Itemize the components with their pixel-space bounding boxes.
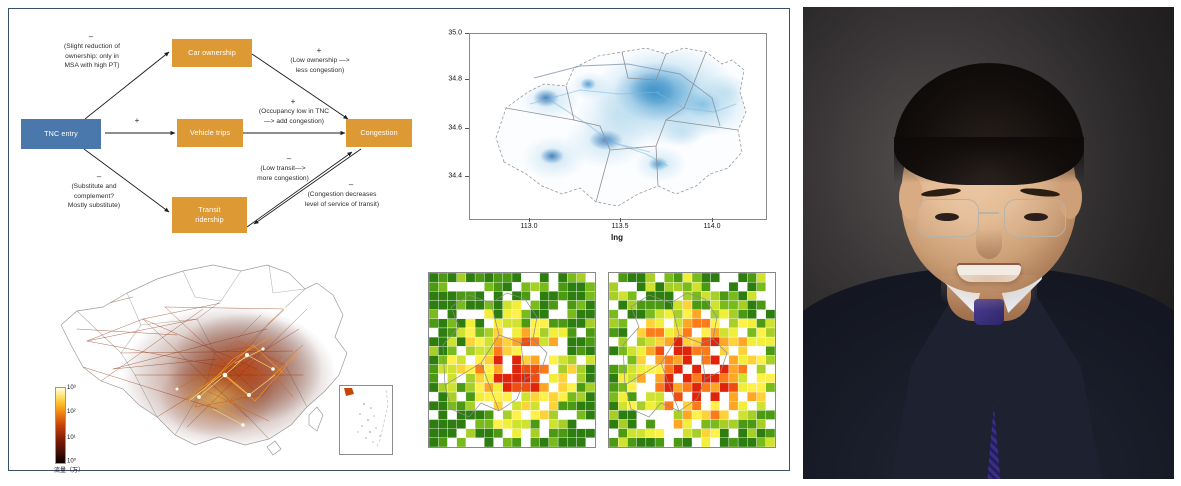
edge-annotation-tnc-ownership: (Slight reduction of ownership: only in …: [51, 42, 133, 71]
diagram-node-label: Congestion: [360, 128, 397, 138]
diagram-node-tnc-entry[interactable]: TNC entry: [21, 119, 101, 149]
kde-xtick-label: 113.0: [521, 223, 538, 230]
flow-colorbar: [55, 387, 66, 464]
eyeglass-lens-left: [917, 199, 979, 237]
kde-ytick-label: 34.8: [444, 76, 462, 83]
national-flow-map: 10³ 10² 10¹ 10⁰ 流量（万）: [17, 249, 417, 469]
flow-colorbar-tick: 10³: [67, 385, 76, 391]
inset-islands: [340, 386, 392, 454]
edge-annotation-trips-congestion: (Occupancy low in TNC —> add congestion): [247, 107, 341, 126]
kde-xtick-label: 113.5: [612, 223, 629, 230]
kde-plot-area: [469, 33, 767, 220]
edge-sign-ownership-congestion: +: [289, 47, 349, 55]
diagram-node-vehicle-trips[interactable]: Vehicle trips: [177, 119, 243, 147]
screenshot-root: TNC entry Car ownership Vehicle trips Co…: [0, 0, 1181, 486]
flow-colorbar-tick: 10⁰: [67, 458, 76, 465]
grid-heatmap-right-surface: [609, 273, 775, 447]
kde-xtick-label: 114.0: [704, 223, 721, 230]
south-china-sea-inset: [339, 385, 393, 455]
edge-annotation-congestion-transit: (Congestion decreases level of service o…: [291, 190, 393, 209]
diagram-node-label: Vehicle trips: [190, 128, 230, 138]
edge-annotation-ownership-congestion: (Low ownership —> less congestion): [281, 56, 359, 75]
diagram-node-label: Transit ridership: [195, 205, 223, 224]
flow-colorbar-label: 流量（万）: [39, 465, 99, 474]
research-figure-slide: TNC entry Car ownership Vehicle trips Co…: [8, 8, 790, 471]
edge-annotation-tnc-transit: (Substitute and complement? Mostly subst…: [51, 182, 137, 211]
flow-colorbar-tick: 10¹: [67, 435, 76, 441]
eyeglass-lens-right: [1004, 199, 1066, 237]
hair-shadow: [894, 137, 1084, 183]
eyeglass-bridge: [979, 212, 999, 214]
nose: [976, 229, 1002, 259]
diagram-node-car-ownership[interactable]: Car ownership: [172, 39, 252, 67]
edge-sign-congestion-transit: –: [321, 181, 381, 189]
portrait-photo: [803, 7, 1174, 479]
diagram-node-label: Car ownership: [188, 48, 236, 58]
diagram-node-label: TNC entry: [44, 129, 78, 139]
kde-density-surface: [470, 34, 766, 219]
kde-x-axis-label: lng: [469, 233, 765, 242]
edge-sign-trips-congestion: +: [263, 98, 323, 106]
kde-ytick-label: 34.4: [444, 173, 462, 180]
grid-heatmap-left: [428, 272, 596, 448]
edge-annotation-transit-congestion: (Low transit—> more congestion): [237, 164, 329, 183]
kde-ytick-label: 34.6: [444, 125, 462, 132]
edge-sign-tnc-transit: –: [69, 173, 129, 181]
grid-heatmap-left-surface: [429, 273, 595, 447]
edge-sign-tnc-trips: +: [107, 117, 167, 125]
diagram-node-transit-ridership[interactable]: Transit ridership: [172, 197, 247, 233]
flow-colorbar-tick: 10²: [67, 409, 76, 415]
grid-heatmap-pair: [424, 264, 784, 464]
chin: [941, 275, 1037, 315]
edge-sign-tnc-ownership: –: [61, 33, 121, 41]
kde-density-map: 35.0 34.8 34.6 34.4 113.0 113.5 114.0 ln…: [424, 15, 784, 255]
kde-ytick-label: 35.0: [444, 30, 462, 37]
diagram-node-congestion[interactable]: Congestion: [346, 119, 412, 147]
causal-diagram: TNC entry Car ownership Vehicle trips Co…: [9, 9, 424, 254]
edge-sign-transit-congestion: –: [259, 155, 319, 163]
grid-heatmap-right: [608, 272, 776, 448]
